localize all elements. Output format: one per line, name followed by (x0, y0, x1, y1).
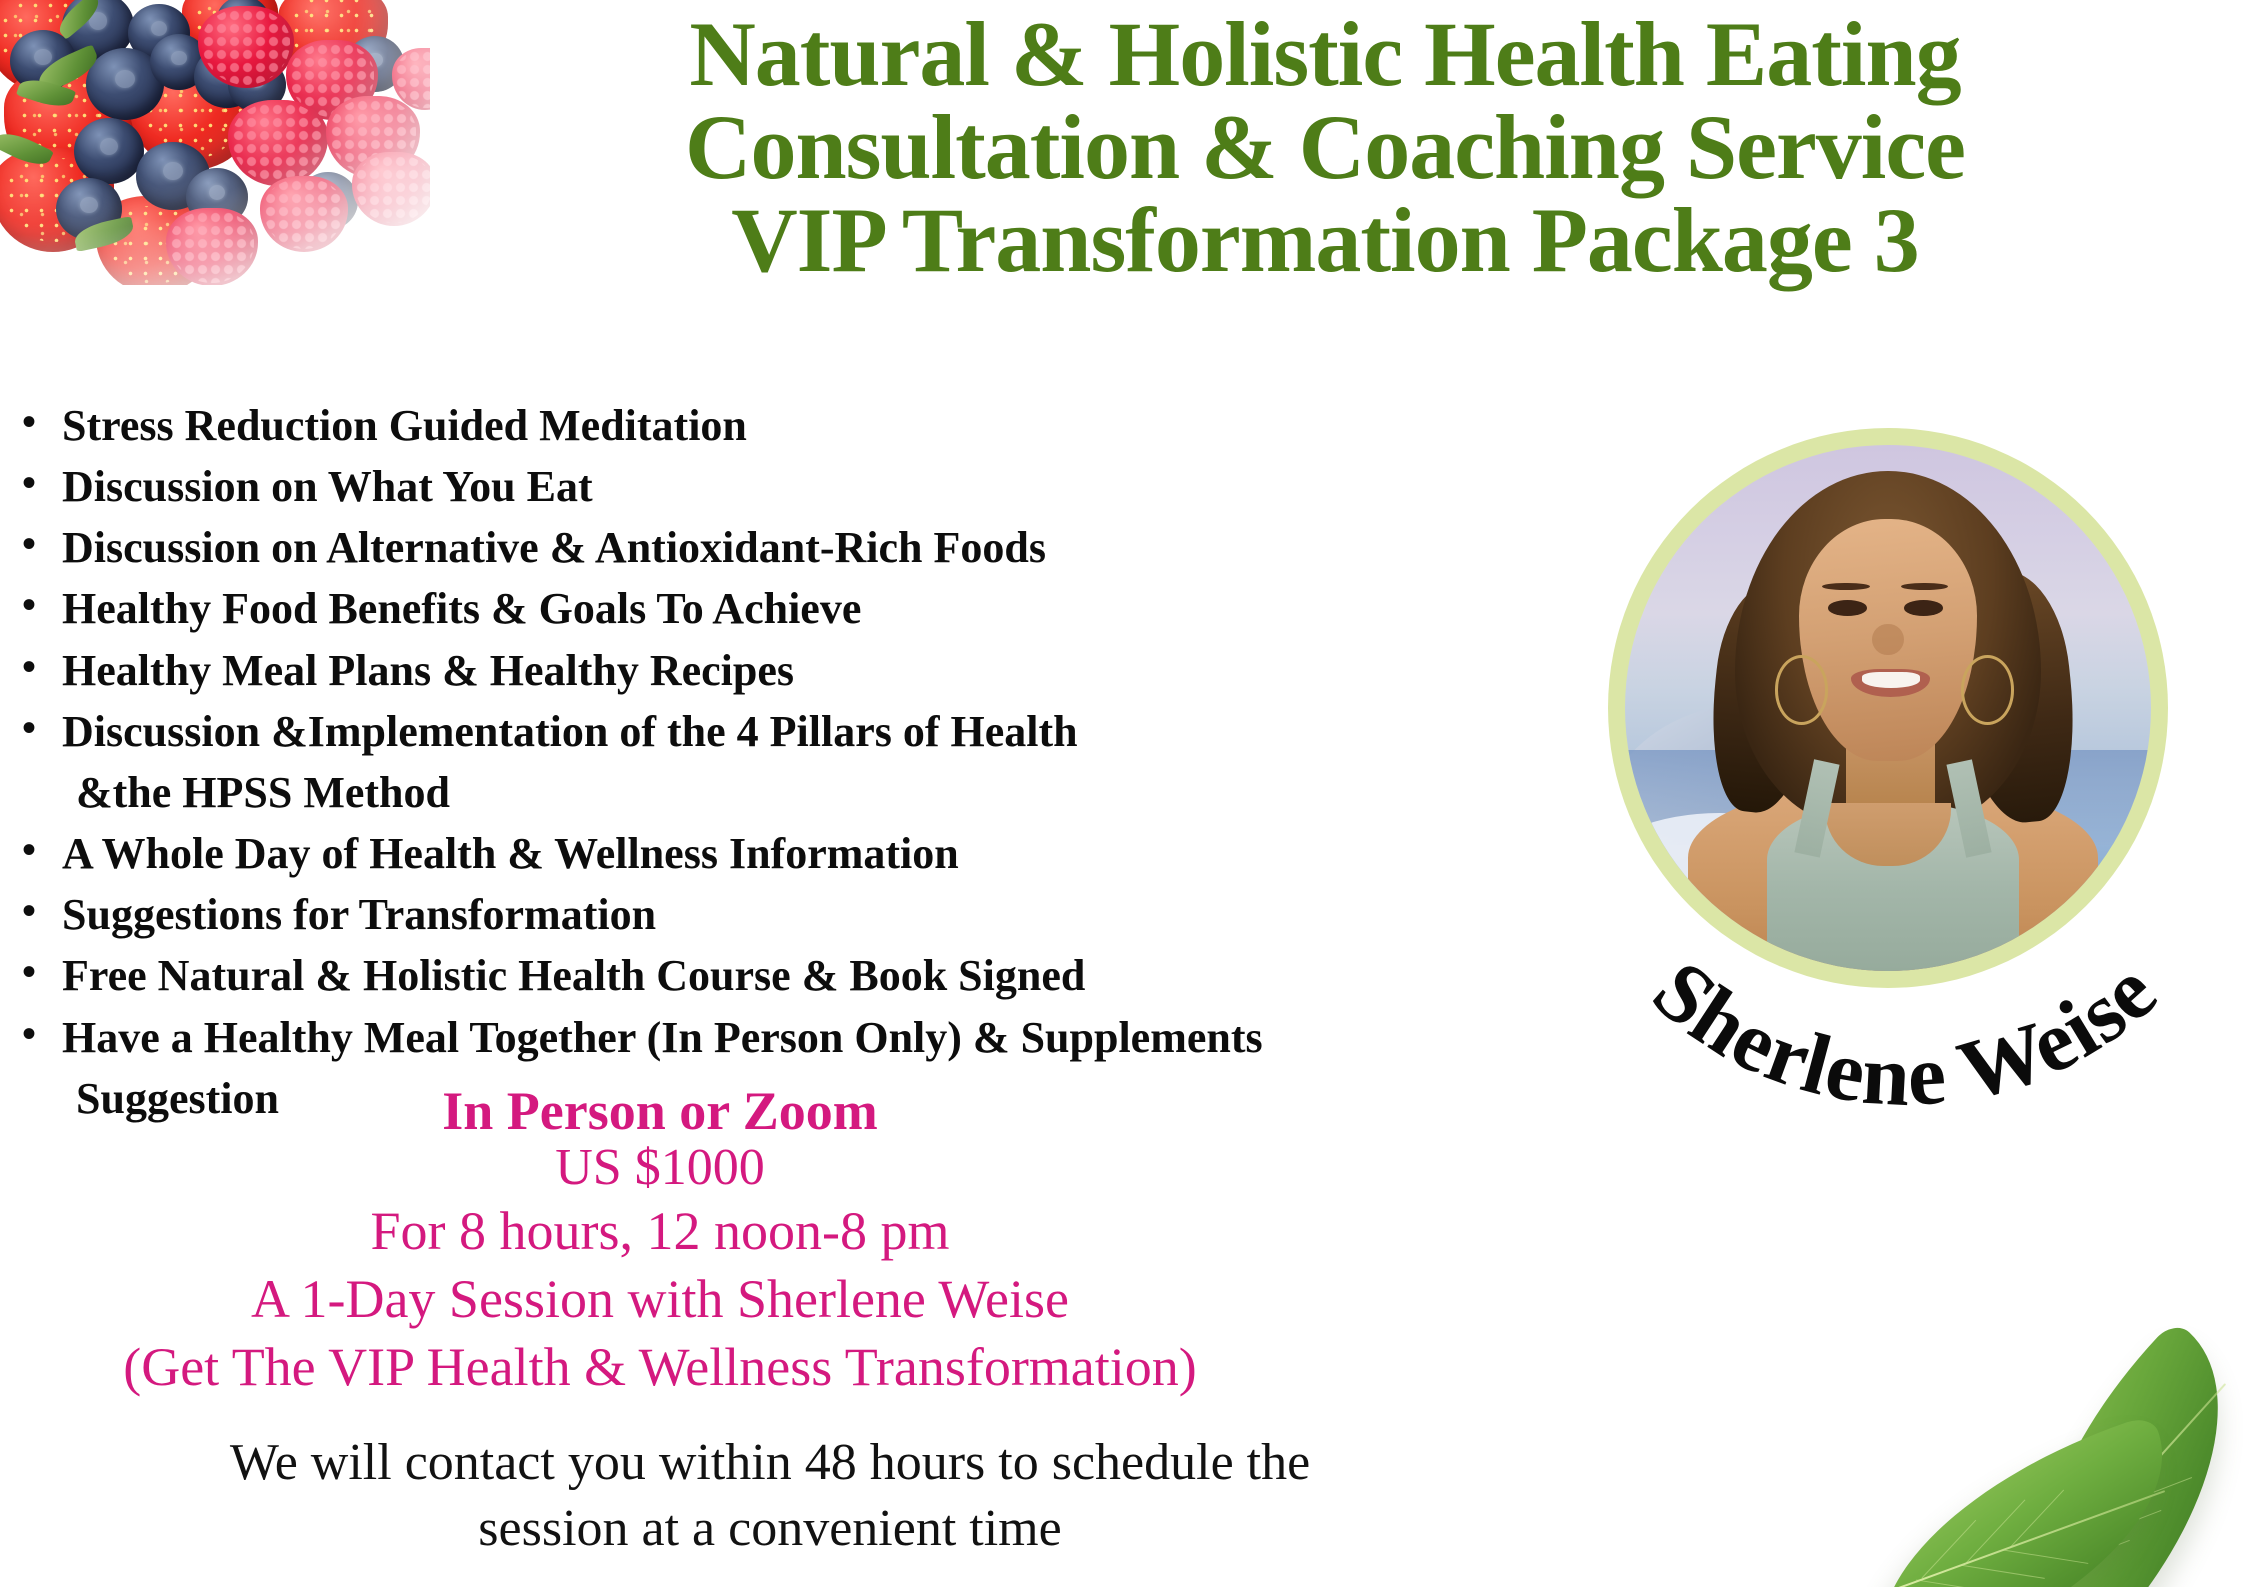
leaf-midrib (1885, 1490, 2165, 1587)
session-label: A 1-Day Session with Sherlene Weise (120, 1266, 1200, 1333)
leaf-upper-right (1956, 1319, 2245, 1587)
feature-list-item: Healthy Food Benefits & Goals To Achieve (18, 578, 1578, 639)
portrait-nose (1872, 624, 1904, 656)
flyer-title: Natural & Holistic Health Eating Consult… (420, 8, 2230, 287)
feature-list-item: Have a Healthy Meal Together (In Person … (18, 1007, 1578, 1068)
hoop-earring-left-icon (1775, 655, 1828, 724)
title-line-1: Natural & Holistic Health Eating (420, 8, 2230, 101)
leaf-midrib (2032, 1383, 2226, 1587)
package-feature-list: Stress Reduction Guided MeditationDiscus… (18, 395, 1578, 1129)
portrait-teeth (1862, 672, 1920, 688)
feature-list-item: Discussion on What You Eat (18, 456, 1578, 517)
leaves-decoration (1775, 1157, 2245, 1587)
feature-list-item: Discussion &Implementation of the 4 Pill… (18, 701, 1578, 762)
duration-label: For 8 hours, 12 noon-8 pm (120, 1197, 1200, 1266)
contact-note: We will contact you within 48 hours to s… (60, 1430, 1480, 1561)
feature-list-item: Suggestions for Transformation (18, 884, 1578, 945)
flyer-canvas: Natural & Holistic Health Eating Consult… (0, 0, 2245, 1587)
feature-list-item: Free Natural & Holistic Health Course & … (18, 945, 1578, 1006)
feature-list-item: Stress Reduction Guided Meditation (18, 395, 1578, 456)
berries-decoration (0, 0, 430, 285)
feature-list-item: Healthy Meal Plans & Healthy Recipes (18, 640, 1578, 701)
delivery-mode: In Person or Zoom (120, 1084, 1200, 1138)
title-line-2: Consultation & Coaching Service (420, 101, 2230, 194)
contact-note-line-1: We will contact you within 48 hours to s… (60, 1430, 1480, 1496)
feature-list-item: Discussion on Alternative & Antioxidant-… (18, 517, 1578, 578)
coach-name-text: Sherlene Weise (1635, 942, 2174, 1124)
title-line-3: VIP Transformation Package 3 (420, 194, 2230, 287)
pricing-block: In Person or Zoom US $1000 For 8 hours, … (120, 1084, 1200, 1402)
feature-list-item: &the HPSS Method (18, 762, 1578, 823)
price-label: US $1000 (120, 1138, 1200, 1197)
portrait-eye-left (1828, 600, 1867, 616)
leaf-lower-left (1840, 1414, 2204, 1587)
feature-list-item: A Whole Day of Health & Wellness Informa… (18, 823, 1578, 884)
hoop-earring-right-icon (1961, 655, 2014, 724)
portrait-eye-right (1904, 600, 1943, 616)
coach-name-arc: Sherlene Weise (1560, 840, 2245, 1170)
portrait-eyebrow-left (1822, 583, 1869, 590)
transformation-note: (Get The VIP Health & Wellness Transform… (120, 1333, 1200, 1402)
contact-note-line-2: session at a convenient time (60, 1496, 1480, 1562)
